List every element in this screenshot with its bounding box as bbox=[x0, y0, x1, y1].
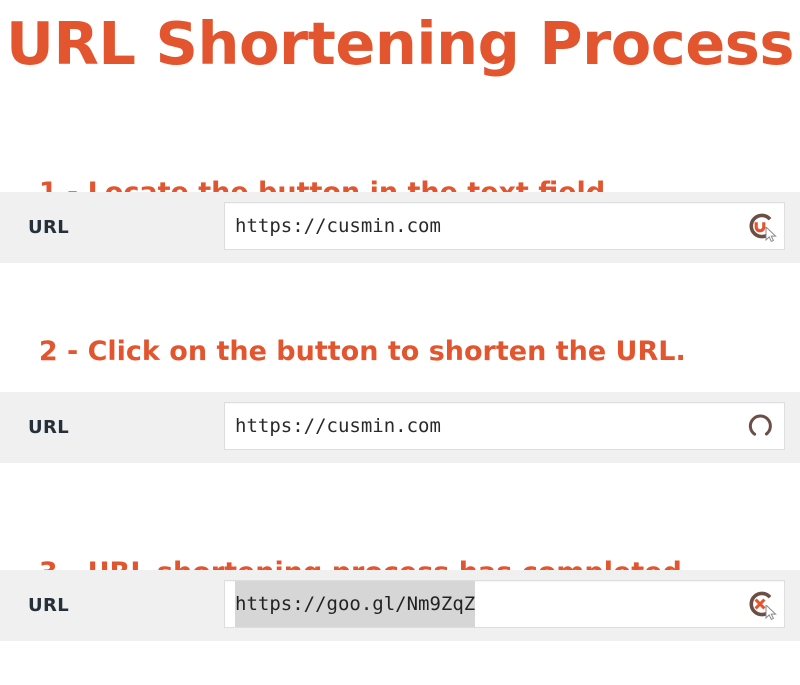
url-input-value: https://goo.gl/Nm9ZqZ bbox=[235, 581, 475, 627]
url-label: URL bbox=[28, 192, 69, 263]
url-input-field[interactable]: https://cusmin.com bbox=[224, 202, 785, 250]
url-input-field[interactable]: https://cusmin.com bbox=[224, 402, 785, 450]
url-row-step-1: URL https://cusmin.com bbox=[0, 192, 800, 263]
url-input-value: https://cusmin.com bbox=[235, 403, 441, 449]
cusmin-clear-icon[interactable] bbox=[744, 588, 776, 620]
url-label: URL bbox=[28, 392, 69, 463]
url-input-value: https://cusmin.com bbox=[235, 203, 441, 249]
url-label: URL bbox=[28, 570, 69, 641]
url-row-step-3: URL https://goo.gl/Nm9ZqZ bbox=[0, 570, 800, 641]
url-input-field[interactable]: https://goo.gl/Nm9ZqZ bbox=[224, 580, 785, 628]
page-title: URL Shortening Process bbox=[0, 12, 800, 77]
url-row-step-2: URL https://cusmin.com bbox=[0, 392, 800, 463]
mouse-cursor-icon bbox=[765, 227, 778, 242]
step-2-heading-line-1: 2 - Click on the button to shorten the U… bbox=[39, 336, 686, 367]
spinner-icon bbox=[744, 410, 776, 442]
cusmin-logo-icon[interactable] bbox=[744, 210, 776, 242]
mouse-cursor-icon bbox=[765, 605, 778, 620]
